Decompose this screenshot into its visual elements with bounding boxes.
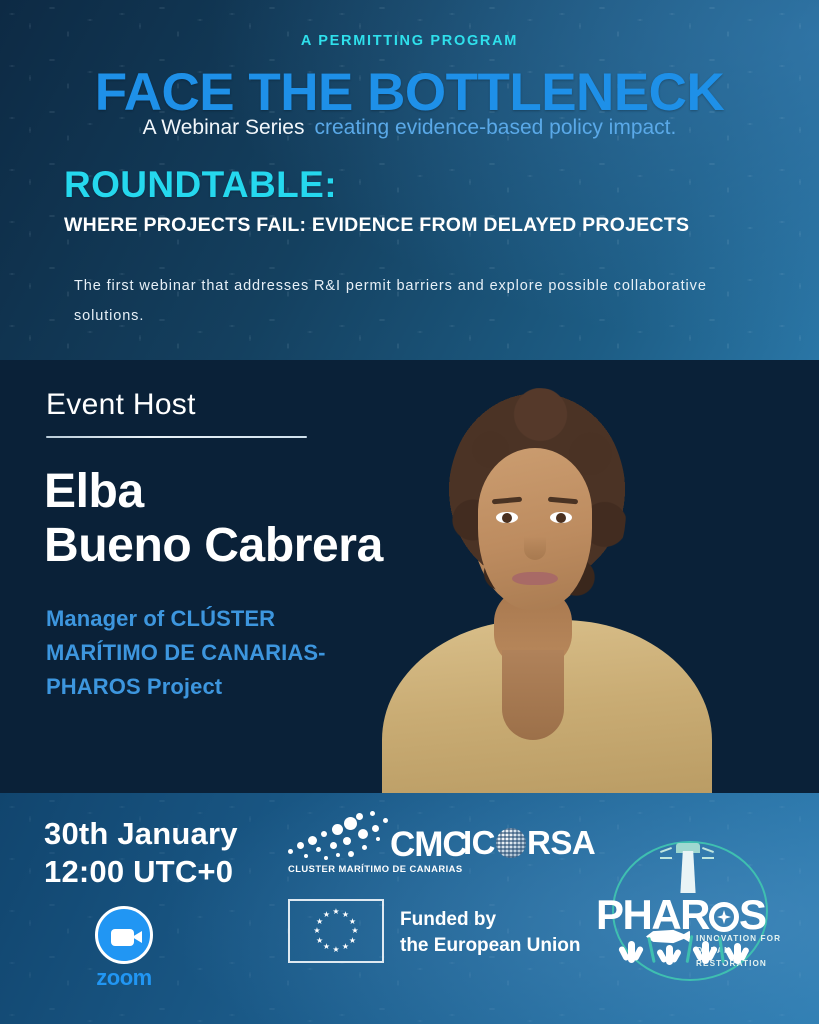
zoom-wordmark: zoom xyxy=(86,965,162,991)
pharos-wordmark: PHARS xyxy=(596,891,766,939)
roundtable-topic: WHERE PROJECTS FAIL: EVIDENCE FROM DELAY… xyxy=(64,214,689,237)
footer-section: 30th January 12:00 UTC+0 zoom CMC CLUSTE… xyxy=(0,793,819,1024)
host-name: Elba Bueno Cabrera xyxy=(44,465,383,573)
page-title: FACE THE BOTTLENECK xyxy=(0,62,819,123)
pharos-logo: PHARS INNOVATION FOR OCEAN RESTORATION xyxy=(604,841,804,991)
divider xyxy=(46,436,307,438)
icrsa-prefix: IC xyxy=(463,824,495,861)
cmc-dots-icon xyxy=(286,809,406,863)
cmc-tagline: CLUSTER MARÍTIMO DE CANARIAS xyxy=(288,863,463,874)
eu-funding-text: Funded by the European Union xyxy=(400,907,581,958)
header-section: A PERMITTING PROGRAM FACE THE BOTTLENECK… xyxy=(0,0,819,360)
eu-flag-icon: ★★★★★★★★★★★★ xyxy=(288,899,384,963)
host-portrait-photo xyxy=(352,360,712,793)
host-section: Event Host Elba Bueno Cabrera Manager of… xyxy=(0,360,819,793)
eu-funding-logo: ★★★★★★★★★★★★ Funded by the European Unio… xyxy=(288,897,588,969)
pharos-word-suffix: S xyxy=(739,891,766,938)
icrsa-wordmark: ICRSA xyxy=(463,823,595,863)
series-tagline: creating evidence-based policy impact. xyxy=(314,116,676,139)
webinar-poster: A PERMITTING PROGRAM FACE THE BOTTLENECK… xyxy=(0,0,819,1024)
video-camera-icon xyxy=(95,906,153,964)
host-role: Manager of CLÚSTER MARÍTIMO DE CANARIAS-… xyxy=(46,602,346,704)
globe-icon xyxy=(496,828,526,858)
cmc-wordmark: CMC xyxy=(390,825,467,865)
icrsa-suffix: RSA xyxy=(527,824,595,861)
pharos-word-prefix: PHAR xyxy=(596,891,709,938)
icrsa-logo: ICRSA xyxy=(463,823,595,863)
event-description: The first webinar that addresses R&I per… xyxy=(74,272,714,331)
roundtable-label: ROUNDTABLE: xyxy=(64,164,337,206)
series-label: A Webinar Series xyxy=(143,116,305,139)
series-subtitle-row: A Webinar Seriescreating evidence-based … xyxy=(0,116,819,140)
program-eyebrow: A PERMITTING PROGRAM xyxy=(0,33,819,49)
propeller-o-icon xyxy=(709,902,739,932)
event-datetime: 30th January 12:00 UTC+0 xyxy=(44,815,238,891)
event-host-label: Event Host xyxy=(46,388,196,422)
zoom-logo: zoom xyxy=(86,906,162,991)
